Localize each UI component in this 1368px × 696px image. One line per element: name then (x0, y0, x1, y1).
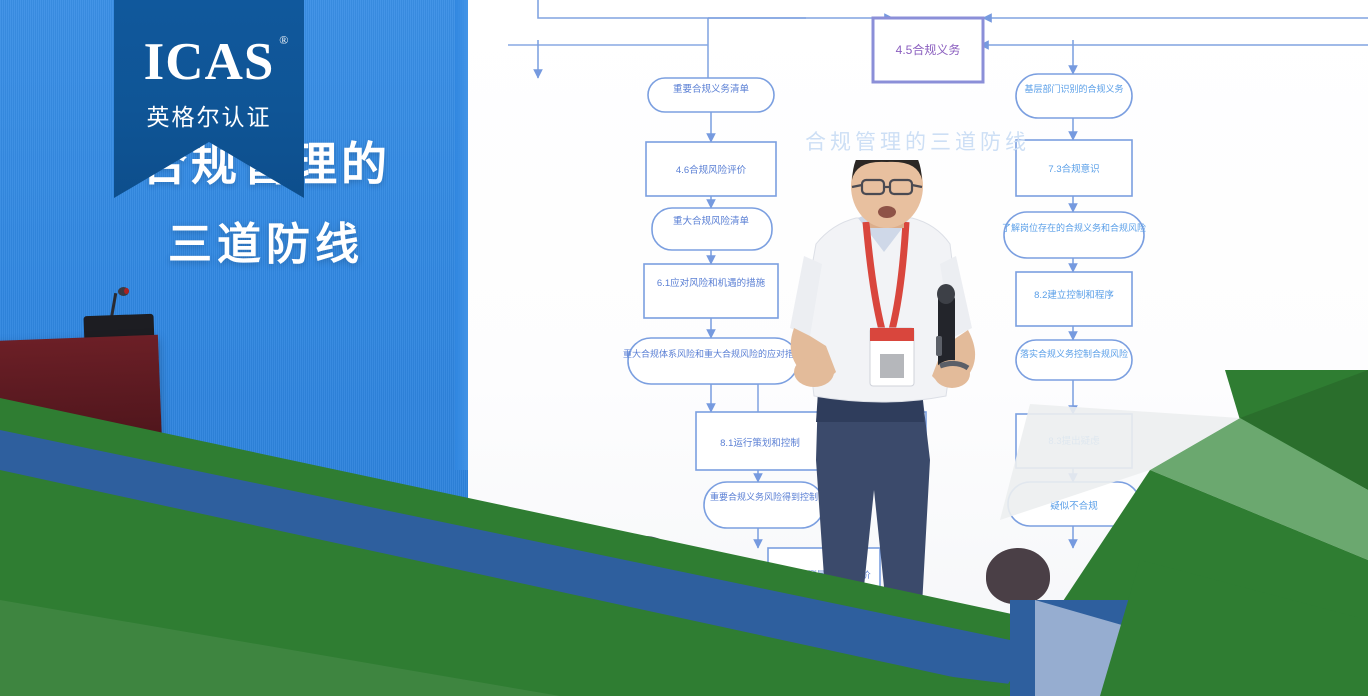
screen-watermark-title: 合规管理的三道防线 (805, 126, 1030, 156)
audience-head (612, 536, 678, 592)
flow-node-dept-duty: 基层部门识别的合规义务 (1024, 83, 1123, 94)
flow-node-report: 疑似不合规 (1050, 500, 1098, 512)
qr-code-icon (880, 354, 904, 378)
flow-node-8-2: 8.2建立控制和程序 (1034, 289, 1114, 301)
speaker-jeans (816, 392, 930, 606)
flow-node-4-5: 4.5合规义务 (896, 42, 961, 57)
wall-headline-bottom: 三道防线 (96, 208, 436, 272)
microphone-head-icon (937, 284, 955, 304)
icas-wordmark: ICAS (144, 33, 275, 91)
flow-node-key-list: 重要合规义务清单 (673, 83, 750, 95)
speaker-figure (770, 160, 1000, 620)
microphone-indicator-icon (124, 288, 129, 294)
speaker-mouth (878, 206, 896, 218)
icas-logo-text: ICAS ® (144, 36, 275, 89)
microphone-switch (936, 336, 942, 356)
flow-node-7-3: 7.3合规意识 (1048, 163, 1099, 175)
registered-trademark-icon: ® (279, 34, 289, 46)
speaker-hand-left (794, 357, 834, 387)
flow-node-control: 落实合规义务控制合规风险 (1020, 348, 1128, 359)
speaker-badge-header (870, 328, 914, 341)
flow-node-post-know: 了解岗位存在的合规义务和合规风险 (1002, 222, 1146, 233)
flow-node-8-3: 8.3提出疑虑 (1048, 435, 1100, 447)
screenshot-root: 4.5合规义务 重要合规义务清单 4.6合规风险评价 重大合规风险清单 6.1应… (0, 0, 1368, 696)
audience-head (1035, 600, 1125, 670)
podium (0, 335, 162, 450)
icas-banner-subtitle: 英格尔认证 (147, 98, 272, 132)
flow-node-6-1: 6.1应对风险和机遇的措施 (657, 277, 766, 289)
flow-node-4-6: 4.6合规风险评价 (676, 164, 747, 176)
flow-node-major-list: 重大合规风险清单 (673, 215, 750, 227)
